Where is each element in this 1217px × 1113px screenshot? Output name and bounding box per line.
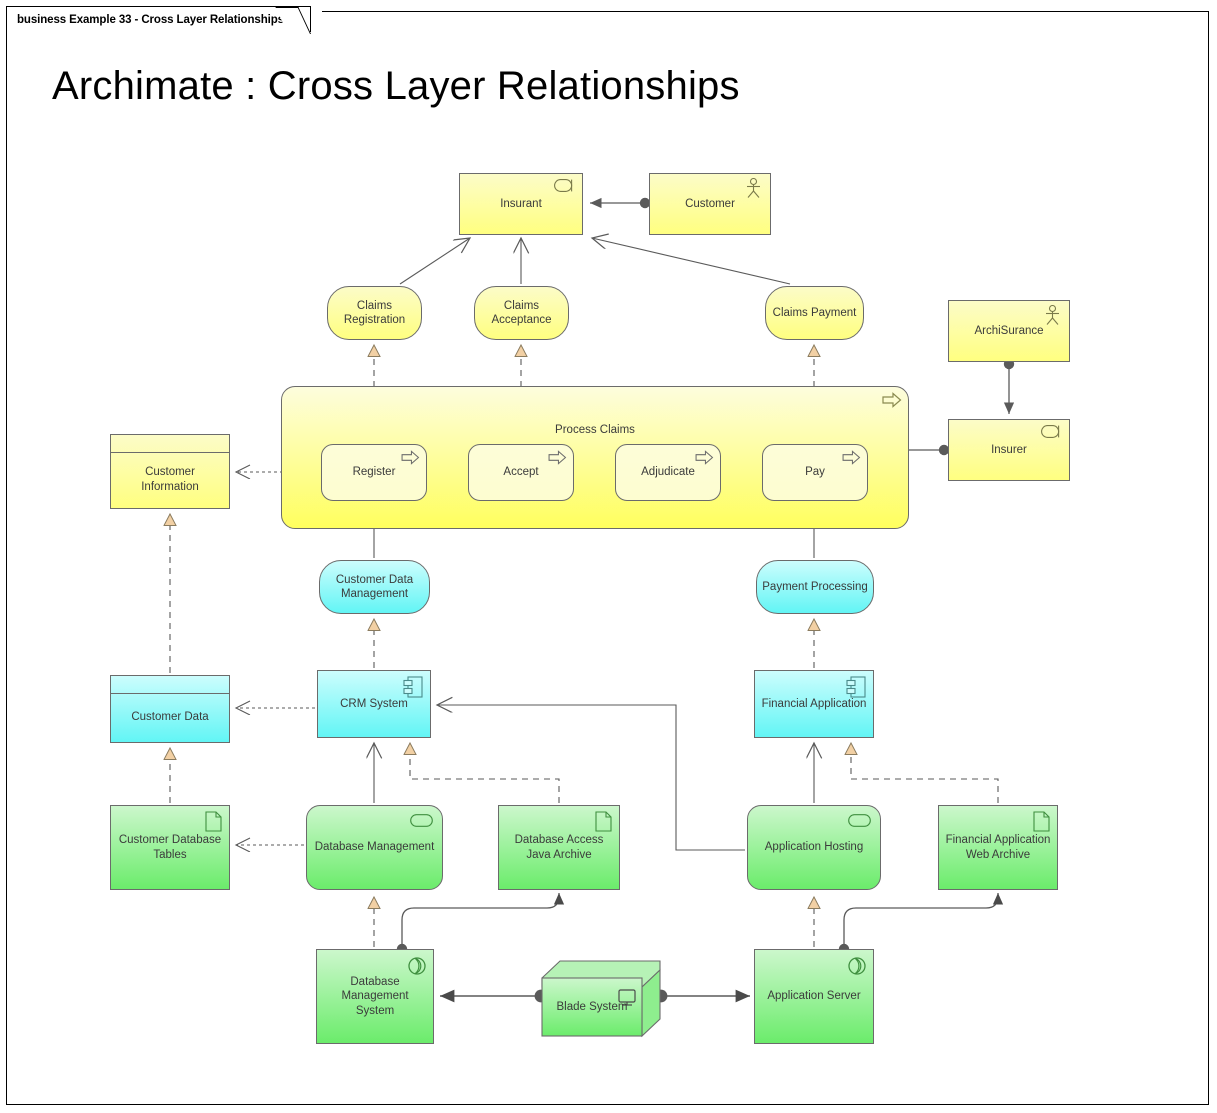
process-icon bbox=[842, 450, 861, 469]
element-label: Application Server bbox=[767, 989, 860, 1003]
artifact-icon bbox=[595, 811, 612, 836]
artifact-financial-application-web-archive[interactable]: Financial Application Web Archive bbox=[938, 805, 1058, 890]
element-label: Financial Application Web Archive bbox=[943, 833, 1053, 861]
role-icon bbox=[1041, 425, 1063, 442]
diagram-tab-label: business Example 33 - Cross Layer Relati… bbox=[17, 14, 284, 26]
business-service-claims-registration[interactable]: Claims Registration bbox=[327, 286, 422, 340]
process-icon bbox=[401, 450, 420, 469]
actor-icon bbox=[745, 178, 762, 203]
business-process-adjudicate[interactable]: Adjudicate bbox=[615, 444, 721, 501]
element-label: Pay bbox=[805, 465, 825, 479]
business-actor-customer[interactable]: Customer bbox=[649, 173, 771, 235]
group-label: Process Claims bbox=[555, 423, 635, 437]
business-object-customer-information[interactable]: Customer Information bbox=[110, 434, 230, 509]
element-label: Customer bbox=[685, 197, 735, 211]
relationship-layer bbox=[0, 0, 1217, 1113]
element-label: Customer Information bbox=[115, 465, 225, 493]
business-process-accept[interactable]: Accept bbox=[468, 444, 574, 501]
artifact-icon bbox=[205, 811, 222, 836]
artifact-customer-database-tables[interactable]: Customer Database Tables bbox=[110, 805, 230, 890]
element-label: Adjudicate bbox=[641, 465, 695, 479]
actor-icon bbox=[1044, 305, 1061, 330]
node-database-management-system[interactable]: Database Management System bbox=[316, 949, 434, 1044]
system-software-database-management[interactable]: Database Management bbox=[306, 805, 443, 890]
syssw-icon bbox=[410, 814, 433, 831]
element-label: Customer Data bbox=[131, 710, 208, 724]
element-label: Customer Database Tables bbox=[115, 833, 225, 861]
application-service-customer-data-management[interactable]: Customer Data Management bbox=[319, 560, 430, 614]
business-service-claims-payment[interactable]: Claims Payment bbox=[765, 286, 864, 340]
element-label: Insurer bbox=[991, 443, 1027, 457]
role-icon bbox=[554, 179, 576, 196]
business-actor-archisurance[interactable]: ArchiSurance bbox=[948, 300, 1070, 362]
business-process-register[interactable]: Register bbox=[321, 444, 427, 501]
process-icon bbox=[548, 450, 567, 469]
element-label: Application Hosting bbox=[765, 840, 863, 854]
element-label: Financial Application bbox=[762, 697, 867, 711]
application-component-financial-application[interactable]: Financial Application bbox=[754, 670, 874, 738]
data-object-customer-data[interactable]: Customer Data bbox=[110, 675, 230, 743]
business-role-insurer[interactable]: Insurer bbox=[948, 419, 1070, 481]
application-component-crm-system[interactable]: CRM System bbox=[317, 670, 431, 738]
artifact-database-access-java-archive[interactable]: Database Access Java Archive bbox=[498, 805, 620, 890]
business-service-claims-acceptance[interactable]: Claims Acceptance bbox=[474, 286, 569, 340]
business-role-insurant[interactable]: Insurant bbox=[459, 173, 583, 235]
business-process-pay[interactable]: Pay bbox=[762, 444, 868, 501]
process-icon bbox=[882, 392, 902, 412]
syssw-icon bbox=[848, 814, 871, 831]
element-label: CRM System bbox=[340, 697, 408, 711]
node-application-server[interactable]: Application Server bbox=[754, 949, 874, 1044]
element-label: Database Management System bbox=[321, 975, 429, 1017]
element-label: Register bbox=[353, 465, 396, 479]
element-label: Customer Data Management bbox=[324, 573, 425, 601]
system-software-application-hosting[interactable]: Application Hosting bbox=[747, 805, 881, 890]
element-label: Claims Registration bbox=[332, 299, 417, 327]
diagram-canvas: business Example 33 - Cross Layer Relati… bbox=[0, 0, 1217, 1113]
object-header-bar bbox=[111, 435, 229, 453]
element-label: Accept bbox=[503, 465, 538, 479]
element-label: Claims Acceptance bbox=[479, 299, 564, 327]
element-label: Payment Processing bbox=[762, 580, 867, 594]
node-icon bbox=[843, 956, 867, 982]
object-header-bar bbox=[111, 676, 229, 694]
application-service-payment-processing[interactable]: Payment Processing bbox=[756, 560, 874, 614]
device-blade-system[interactable]: Blade System bbox=[541, 960, 669, 1038]
element-label: Blade System bbox=[542, 978, 642, 1036]
element-label: Claims Payment bbox=[773, 306, 857, 320]
element-label: Database Access Java Archive bbox=[503, 833, 615, 861]
artifact-icon bbox=[1033, 811, 1050, 836]
element-label: ArchiSurance bbox=[974, 324, 1043, 338]
process-icon bbox=[695, 450, 714, 469]
diagram-tab[interactable]: business Example 33 - Cross Layer Relati… bbox=[6, 6, 311, 32]
element-label: Database Management bbox=[315, 840, 435, 854]
element-label: Insurant bbox=[500, 197, 542, 211]
